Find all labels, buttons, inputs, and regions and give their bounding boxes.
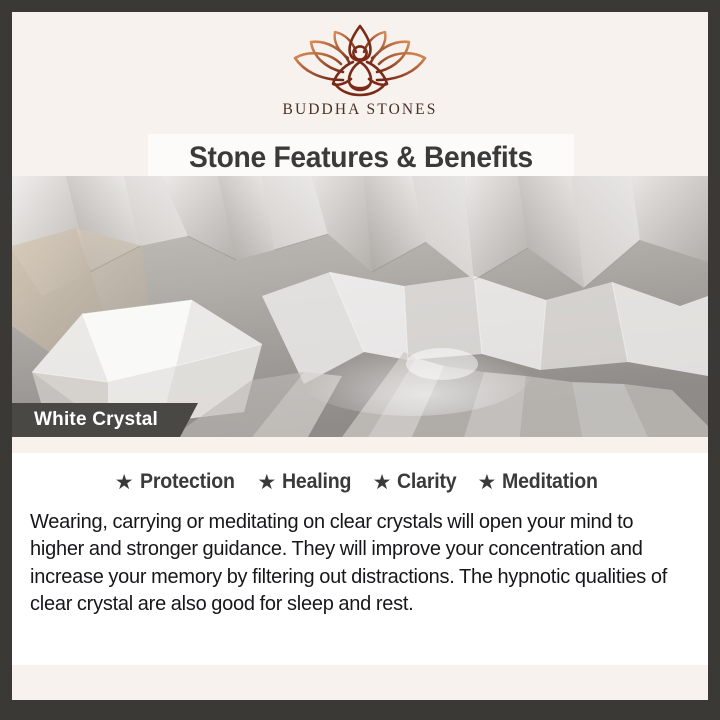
poster-frame: BUDDHA STONES Stone Features & Benefits bbox=[0, 0, 720, 720]
benefit-label: Meditation bbox=[502, 470, 598, 494]
benefits-row: ★ Protection ★ Healing ★ Clarity ★ Medit… bbox=[30, 470, 690, 494]
brand-logo: BUDDHA STONES bbox=[12, 22, 708, 119]
star-icon: ★ bbox=[477, 472, 496, 493]
benefit-label: Clarity bbox=[397, 470, 456, 494]
description-paragraph: Wearing, carrying or meditating on clear… bbox=[30, 508, 674, 617]
benefit-item-meditation: ★ Meditation bbox=[477, 470, 605, 494]
crystal-photo-art bbox=[12, 176, 708, 437]
lotus-meditation-icon bbox=[285, 22, 435, 98]
title-banner: Stone Features & Benefits bbox=[148, 134, 574, 181]
star-icon: ★ bbox=[115, 472, 134, 493]
page-title: Stone Features & Benefits bbox=[189, 141, 533, 175]
cream-separator bbox=[12, 437, 708, 453]
content-panel: ★ Protection ★ Healing ★ Clarity ★ Medit… bbox=[12, 453, 708, 665]
brand-wordmark: BUDDHA STONES bbox=[12, 101, 708, 119]
star-icon: ★ bbox=[373, 472, 392, 493]
photo-caption-chip: White Crystal bbox=[12, 403, 198, 437]
benefit-label: Protection bbox=[140, 470, 235, 494]
title-banner-host: Stone Features & Benefits bbox=[12, 129, 708, 181]
benefit-item-clarity: ★ Clarity bbox=[373, 470, 462, 494]
crystal-photo: White Crystal bbox=[12, 176, 708, 437]
photo-caption-label: White Crystal bbox=[34, 409, 158, 431]
benefit-item-healing: ★ Healing bbox=[257, 470, 356, 494]
benefit-label: Healing bbox=[282, 470, 351, 494]
star-icon: ★ bbox=[257, 472, 276, 493]
bottom-cream-strip bbox=[12, 665, 708, 700]
benefit-item-protection: ★ Protection bbox=[115, 470, 242, 494]
poster-card: BUDDHA STONES Stone Features & Benefits bbox=[12, 12, 708, 700]
